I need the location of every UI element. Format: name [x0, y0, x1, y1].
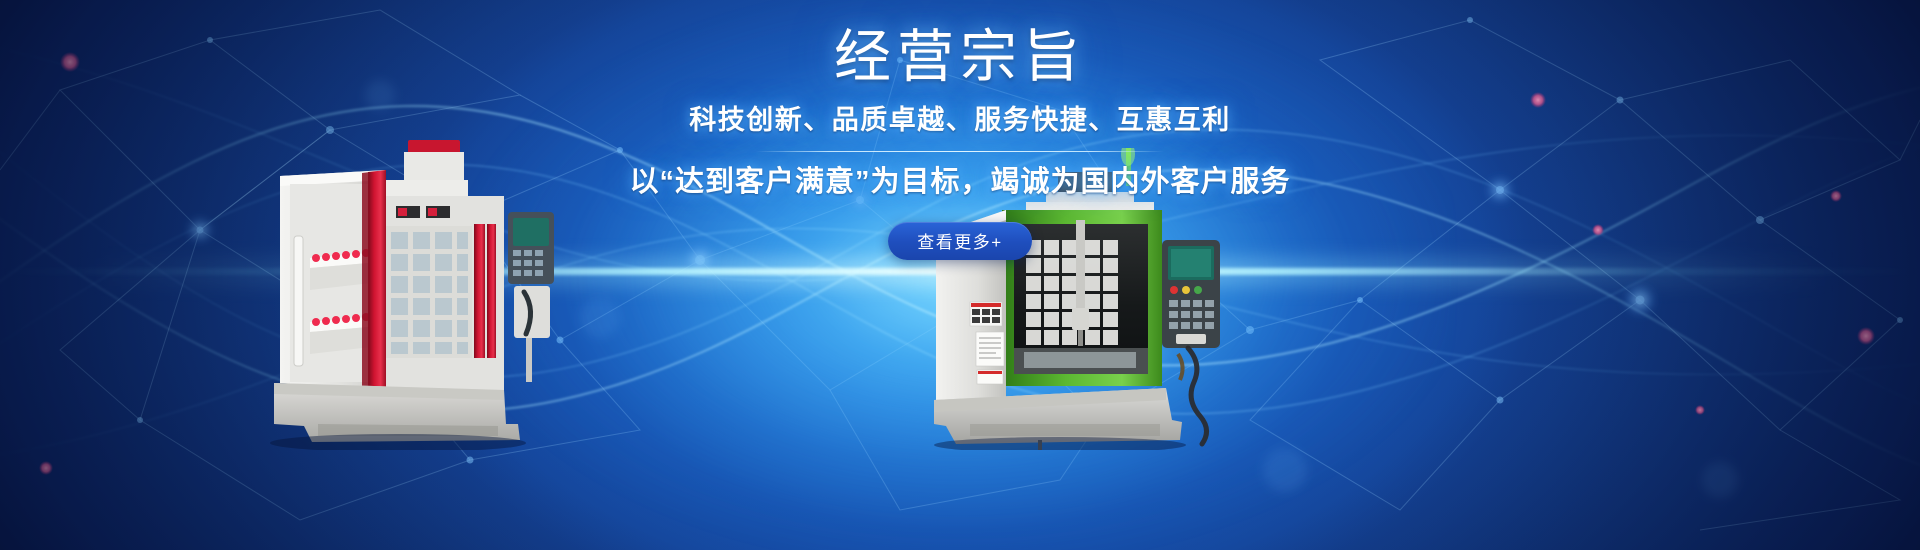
text-divider: [756, 151, 1164, 152]
view-more-button[interactable]: 查看更多+: [888, 222, 1032, 260]
banner-subtitle: 科技创新、品质卓越、服务快捷、互惠互利: [689, 103, 1231, 138]
banner-content: 经营宗旨 科技创新、品质卓越、服务快捷、互惠互利 以“达到客户满意”为目标，竭诚…: [0, 0, 1920, 550]
page-title: 经营宗旨: [834, 26, 1086, 90]
hero-banner: 经营宗旨 科技创新、品质卓越、服务快捷、互惠互利 以“达到客户满意”为目标，竭诚…: [0, 0, 1920, 550]
banner-tagline: 以“达到客户满意”为目标，竭诚为国内外客户服务: [629, 164, 1290, 202]
